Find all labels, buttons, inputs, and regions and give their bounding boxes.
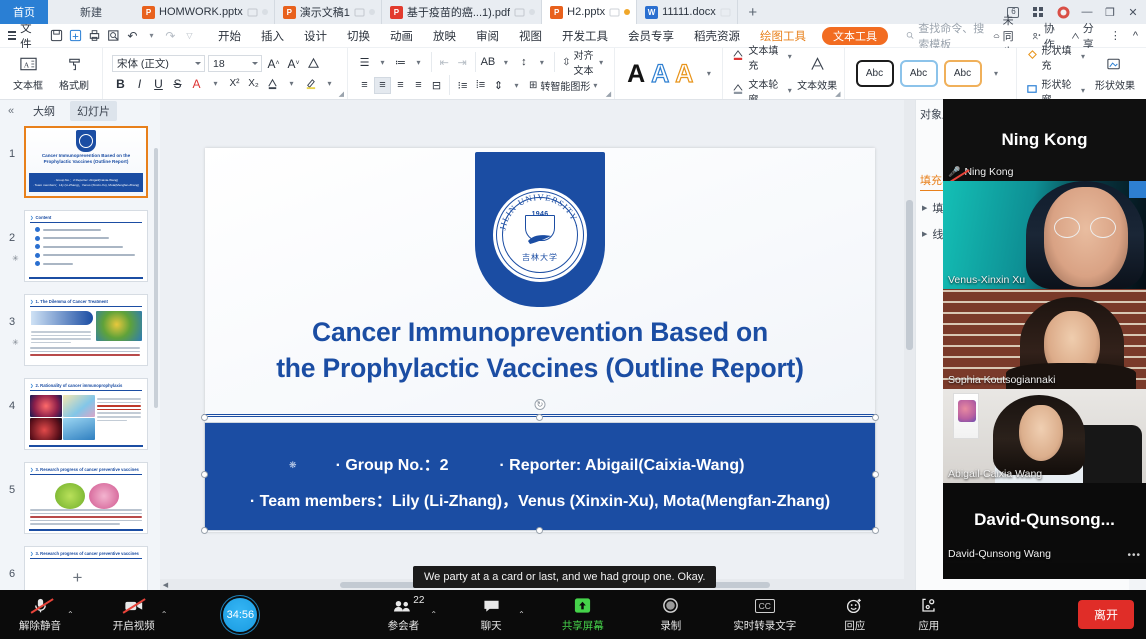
document-tab-label: 基于疫苗的癌...1).pdf (407, 4, 510, 20)
align-text-button[interactable]: ⇳ 对齐文本 ▾ (559, 54, 606, 71)
video-participant-name: Ning Kong (964, 166, 1013, 178)
row-spacing-caret-icon[interactable]: ▾ (508, 77, 525, 94)
video-tile-venus[interactable]: Venus-Xinxin Xu (943, 181, 1146, 289)
align-text-label: 对齐文本 (574, 47, 597, 77)
tab-status-dot (529, 9, 535, 15)
align-right-button[interactable]: ≡ (392, 77, 409, 94)
live-caption: We party at a a card or last, and we had… (413, 566, 716, 588)
underline-button[interactable]: U (150, 75, 167, 92)
record-button[interactable]: 录制 (645, 596, 697, 633)
text-outline-caret-icon: ▾ (788, 86, 792, 95)
video-name-label: Sophia Koutsogiannaki (948, 374, 1055, 386)
shape-fill-button[interactable]: 形状填充 ▾ (1026, 42, 1085, 72)
document-tab-presentation1[interactable]: P 演示文稿1 (275, 0, 382, 24)
share-icon (1071, 30, 1080, 42)
shape-effect-button[interactable]: 形状效果 (1089, 56, 1141, 92)
stage-vscroll-thumb[interactable] (906, 200, 913, 350)
text-fill-outline-controls: 文本填充 ▾ 文本轮廓 ▾ (728, 42, 795, 106)
slide-thumbnail-2[interactable]: 2 ✳ ❯Content (0, 206, 160, 290)
bold-button[interactable]: B (112, 75, 129, 92)
character-shading-icon[interactable] (264, 75, 281, 92)
participants-icon: 22 (393, 596, 413, 615)
superscript-button[interactable]: X² (226, 75, 243, 92)
video-tile-david[interactable]: David-Qunsong... David-Qunsong Wang ••• (943, 483, 1146, 563)
increase-font-size-button[interactable]: A˄ (265, 55, 282, 72)
svg-text:A: A (23, 60, 29, 69)
justify-button[interactable]: ≡ (410, 77, 427, 94)
text-direction-button[interactable]: AB (479, 54, 496, 71)
chat-options-caret-icon[interactable]: ⌃ (518, 610, 525, 619)
shape-style-black[interactable]: Abc (856, 60, 894, 87)
shape-effect-icon (1106, 56, 1123, 75)
slide-thumbnail-5[interactable]: 5 ❯3. Research progress of cancer preven… (0, 458, 160, 542)
video-control-group: 开启视频 ⌃ (108, 596, 168, 633)
align-text-icon: ⇳ (562, 57, 570, 68)
stage-vertical-scrollbar[interactable] (904, 100, 915, 579)
slides-panel-scrollbar[interactable] (154, 148, 158, 408)
document-tab-pdf[interactable]: P 基于疫苗的癌...1).pdf (382, 0, 542, 24)
chat-label: 聊天 (481, 618, 502, 633)
thumb-heading-text: 1. The Dilemma of Cancer Treatment (36, 299, 108, 304)
slides-panel: « 大纲 幻灯片 1 Cancer Immunoprevention Based… (0, 100, 160, 590)
tab-status-dot (262, 9, 268, 15)
paragraph-group-expand-icon[interactable]: ◢ (606, 90, 611, 98)
leave-meeting-button[interactable]: 离开 (1078, 600, 1134, 629)
video-options-caret-icon[interactable]: ⌃ (161, 610, 168, 619)
line-spacing-button[interactable]: ↕ (515, 54, 532, 71)
participants-button[interactable]: 22 参会者 (377, 596, 429, 633)
participants-label: 参会者 (388, 618, 420, 633)
command-search-placeholder: 查找命令、搜索模板 (918, 20, 993, 52)
mic-control-group: 解除静音 ⌃ (14, 596, 74, 633)
thumb-heading-text: 3. Research progress of cancer preventiv… (36, 551, 139, 556)
thumb-heading: ❯3. Research progress of cancer preventi… (30, 467, 142, 475)
paragraph-controls: ☰ ▾ ≔ ▾ ⇤ ⇥ AB ▾ ↕ ▾ ⇳ 对齐文本 ▾ (353, 52, 609, 95)
slide-info-box[interactable]: ❋ · Group No.：2 · Reporter: Abigail(Caix… (205, 423, 875, 530)
format-brush-icon (66, 56, 83, 75)
eyeglasses-icon (1054, 217, 1116, 238)
hamburger-icon (8, 29, 16, 42)
tab-preview-icon[interactable] (720, 7, 731, 18)
wall-poster (953, 393, 979, 439)
pdf-file-icon: P (390, 6, 403, 19)
thumb-info-band: · Group No.：2 Reporter: Abigail(Caixia-W… (29, 173, 143, 192)
slide-thumbnail-body: ❯2. Rationality of cancer immunoprophyla… (24, 378, 148, 450)
home-tab-label: 首页 (13, 4, 35, 20)
slide-info-line2: · Team members：Lily (Li-Zhang)，Venus (Xi… (205, 487, 875, 511)
tab-status-dot (369, 9, 375, 15)
thumb-cell-green (55, 483, 85, 509)
slide-thumbnail-3[interactable]: 3 ✳ ❯1. The Dilemma of Cancer Treatment (0, 290, 160, 374)
tab-slides[interactable]: 幻灯片 (70, 101, 117, 121)
thumb-info-line1: · Group No.：2 Reporter: Abigail(Caixia-W… (31, 178, 141, 182)
tab-outline[interactable]: 大纲 (26, 101, 62, 121)
powerpoint-file-icon: P (550, 6, 563, 19)
bullet-list-button[interactable]: ☰ (356, 54, 373, 71)
thumb-bullet (35, 261, 141, 266)
more-options-button[interactable]: ⋮ (1110, 29, 1121, 42)
start-video-button[interactable]: 开启视频 (108, 596, 160, 633)
leave-meeting-label: 离开 (1094, 608, 1118, 622)
zoom-video-panel: Ning Kong 🎤 Ning Kong Venus-Xinxin Xu So… (943, 99, 1146, 579)
collapse-panel-icon[interactable]: « (4, 105, 18, 117)
thumb-lines (31, 329, 93, 345)
highlight-caret-icon[interactable]: ▾ (321, 75, 338, 92)
thumb-heading: ❯1. The Dilemma of Cancer Treatment (30, 299, 142, 307)
mic-options-caret-icon[interactable]: ⌃ (67, 610, 74, 619)
resize-handle-right-top[interactable] (872, 414, 879, 421)
bullet-caret-icon[interactable]: ▾ (374, 54, 391, 71)
slide-number: 3 (0, 294, 24, 328)
align-center-button[interactable]: ≡ (374, 77, 391, 94)
ribbon-tab-developer[interactable]: 开发工具 (552, 28, 618, 44)
thumb-paragraph (30, 345, 142, 358)
italic-button[interactable]: I (131, 75, 148, 92)
collapse-ribbon-button[interactable]: ^ (1133, 30, 1138, 42)
logo-bird-icon (527, 233, 553, 245)
new-document-label: 新建 (80, 4, 102, 20)
undo-caret-icon[interactable]: ▾ (143, 27, 160, 45)
ribbon-group-textbox: A 文本框 格式刷 (0, 48, 102, 99)
ribbon-tab-view[interactable]: 视图 (509, 28, 552, 44)
slide-thumbnail-4[interactable]: 4 ❯2. Rationality of cancer immunoprophy… (0, 374, 160, 458)
logo-ring-icon: JILIN UNIVERSITY · CHINA 1946 吉林大学 (493, 188, 587, 282)
thumb-heading: ❯2. Rationality of cancer immunoprophyla… (30, 383, 142, 391)
slide-thumbnail-1[interactable]: 1 Cancer Immunoprevention Based on the P… (0, 122, 160, 206)
apps-icon (920, 596, 937, 615)
slide-thumbnail-body: ❯3. Research progress of cancer preventi… (24, 462, 148, 534)
subscript-button[interactable]: X₂ (245, 75, 262, 92)
convert-smartart-button[interactable]: ⊞ 转智能图形 ▾ (526, 77, 600, 94)
file-menu-label: 文件 (20, 20, 37, 52)
resize-handle-right-bottom[interactable] (872, 527, 879, 534)
logo-year: 1946 (532, 211, 549, 218)
logo-ring-text: JILIN UNIVERSITY · CHINA (493, 188, 587, 282)
active-slide[interactable]: JILIN UNIVERSITY · CHINA 1946 吉林大学 Cance… (205, 148, 875, 532)
document-tab-label: 11111.docx (662, 6, 716, 18)
number-caret-icon[interactable]: ▾ (410, 54, 427, 71)
columns-button[interactable]: ⁝≡ (454, 77, 471, 94)
participants-control-group: 22 参会者 ⌃ (377, 596, 437, 633)
thumb-info-line2: · Team members：Lily (Li-Zhang)，Venus (Xi… (31, 183, 141, 187)
textbox-label: 文本框 (13, 77, 43, 92)
shape-style-more-caret-icon[interactable]: ▾ (988, 65, 1005, 82)
video-off-icon (124, 596, 144, 615)
font-color-caret-icon[interactable]: ▾ (207, 75, 224, 92)
divider (554, 52, 555, 72)
smartart-label: 转智能图形 (540, 78, 590, 93)
shape-fill-caret-icon: ▾ (1081, 52, 1085, 61)
thumb-image-4 (63, 418, 95, 440)
new-document-button[interactable]: 新建 (48, 0, 134, 24)
powerpoint-file-icon: P (142, 6, 155, 19)
thumb-bullet (35, 253, 141, 258)
slide-editor-stage: JILIN UNIVERSITY · CHINA 1946 吉林大学 Cance… (160, 100, 915, 590)
divider (431, 52, 432, 72)
video-tile-ning-kong[interactable]: Ning Kong 🎤 Ning Kong (943, 99, 1146, 181)
paragraph-row-1: ☰ ▾ ≔ ▾ ⇤ ⇥ AB ▾ ↕ ▾ ⇳ 对齐文本 ▾ (356, 52, 606, 72)
shape-fill-icon (1026, 49, 1038, 64)
home-tab[interactable]: 首页 (0, 0, 48, 24)
mic-off-icon: 🎤 (948, 167, 960, 178)
text-outline-icon (732, 83, 744, 98)
new-tab-button[interactable]: + (738, 0, 768, 24)
cloud-sync-icon (993, 30, 1000, 42)
ribbon-tab-start[interactable]: 开始 (208, 28, 251, 44)
file-menu-button[interactable]: 文件 (0, 20, 44, 52)
format-brush-button[interactable]: 格式刷 (51, 56, 97, 92)
numbered-list-button[interactable]: ≔ (392, 54, 409, 71)
slide-thumbnail-body: ❯Content (24, 210, 148, 282)
smartart-caret-icon: ▾ (593, 81, 597, 90)
font-row-primary: 宋体 (正文) 18 A˄ A˅ (112, 55, 338, 72)
strikethrough-button[interactable]: S (169, 75, 186, 92)
ribbon-group-shape-format: 形状填充 ▾ 形状轮廓 ▾ 形状效果 (1016, 48, 1146, 99)
video-more-options-icon[interactable]: ••• (1127, 550, 1141, 561)
font-group-expand-icon[interactable]: ◢ (339, 90, 344, 98)
thumb-bullets (35, 227, 141, 270)
shape-style-gallery: Abc Abc Abc ▾ (850, 60, 1011, 87)
shape-outline-icon (1026, 83, 1038, 98)
font-controls: 宋体 (正文) 18 A˄ A˅ B I U (108, 55, 342, 92)
meeting-timer-value: 34:56 (227, 609, 255, 621)
video-name-label: David-Qunsong Wang (948, 548, 1051, 560)
thumb-bullet (35, 244, 141, 249)
shape-style-orange[interactable]: Abc (944, 60, 982, 87)
chevron-down-icon (195, 62, 201, 65)
thumb-title: Cancer Immunoprevention Based on the Pro… (30, 153, 142, 165)
textbox-button[interactable]: A 文本框 (5, 56, 51, 92)
slides-panel-header: « 大纲 幻灯片 (0, 100, 160, 122)
ribbon-tab-transition[interactable]: 切换 (337, 28, 380, 44)
thumb-heading-text: 3. Research progress of cancer preventiv… (36, 467, 139, 472)
resize-handle-right[interactable] (872, 471, 879, 478)
ribbon-group-font: 宋体 (正文) 18 A˄ A˅ B I U (102, 48, 347, 99)
document-tab-homwork[interactable]: P HOMWORK.pptx (134, 0, 275, 24)
ribbon-tab-slideshow[interactable]: 放映 (423, 28, 466, 44)
thumb-image-3 (30, 418, 62, 440)
decrease-font-size-button[interactable]: A˅ (285, 55, 302, 72)
paragraph-row-2: ≡ ≡ ≡ ≡ ⊟ ⁝≡ ⁞≡ ⇕ ▾ ⊞ 转智能图形 ▾ (356, 75, 606, 95)
document-tab-label: 演示文稿1 (300, 4, 350, 20)
font-family-select[interactable]: 宋体 (正文) (112, 55, 205, 72)
thumb-heading-marker: ❯ (30, 467, 34, 472)
reactions-button[interactable]: 回应 (829, 596, 881, 633)
text-direction-caret-icon[interactable]: ▾ (497, 54, 514, 71)
resize-handle-top[interactable] (536, 414, 543, 421)
animation-star-icon: ✳ (12, 338, 19, 347)
font-family-value: 宋体 (正文) (117, 56, 169, 71)
video-participant-name: David-Qunsong Wang (948, 548, 1051, 560)
shading-caret-icon[interactable]: ▾ (283, 75, 300, 92)
font-size-value: 18 (213, 58, 225, 70)
tab-preview-icon[interactable] (354, 7, 365, 18)
ribbon-tab-text-tools[interactable]: 文本工具 (822, 27, 888, 45)
svg-text:JILIN UNIVERSITY · CHINA: JILIN UNIVERSITY · CHINA (493, 188, 583, 232)
rotate-handle[interactable]: ↻ (535, 399, 546, 410)
mic-off-icon (32, 596, 49, 615)
align-text-caret-icon: ▾ (599, 58, 603, 67)
tab-preview-icon[interactable] (514, 7, 525, 18)
resize-handle-left-bottom[interactable] (201, 527, 208, 534)
ribbon-tab-review[interactable]: 审阅 (466, 28, 509, 44)
text-fill-button[interactable]: 文本填充 ▾ (732, 42, 791, 72)
increase-indent-button[interactable]: ⇥ (454, 54, 471, 71)
tab-preview-icon[interactable] (247, 7, 258, 18)
resize-handle-left[interactable] (201, 471, 208, 478)
slides-list[interactable]: 1 Cancer Immunoprevention Based on the P… (0, 122, 160, 590)
video-name-label: 🎤 Ning Kong (948, 166, 1014, 178)
video-display-name: David-Qunsong... (943, 510, 1146, 530)
undo-icon[interactable]: ↶ (124, 27, 141, 45)
print-icon[interactable] (86, 27, 103, 45)
paragraph-spacing-button[interactable]: ⁞≡ (472, 77, 489, 94)
save-as-cloud-icon[interactable] (67, 27, 84, 45)
thumb-heading-marker: ❯ (30, 299, 34, 304)
start-video-label: 开启视频 (113, 618, 155, 633)
slide-title[interactable]: Cancer Immunoprevention Based on the Pro… (227, 314, 853, 386)
font-row-styles: B I U S A ▾ X² X₂ ▾ ▾ (112, 75, 338, 92)
chevron-right-icon: ▶ (922, 204, 927, 212)
record-label: 录制 (660, 618, 681, 633)
customize-qat-icon[interactable]: ▽ (181, 27, 198, 45)
wordart-gallery: A A A (620, 61, 700, 87)
add-slide-button[interactable]: + (0, 568, 155, 588)
resize-handle-bottom[interactable] (536, 527, 543, 534)
highlight-icon[interactable] (302, 75, 319, 92)
logo-inner-emblem: 1946 吉林大学 (515, 209, 565, 261)
document-tab-docx[interactable]: W 11111.docx (637, 0, 738, 24)
wordart-style-blue[interactable]: A (651, 61, 669, 87)
meeting-timer: 34:56 (223, 598, 257, 632)
thumb-paragraph (30, 507, 142, 527)
ribbon-group-wordart: A A A ▾ (614, 48, 722, 99)
video-name-label: Abigail-Caixia Wang (948, 468, 1042, 480)
thumb-image-1 (30, 395, 62, 417)
decrease-indent-button[interactable]: ⇤ (436, 54, 453, 71)
search-icon (906, 30, 914, 41)
slide-thumbnail-body: Cancer Immunoprevention Based on the Pro… (24, 126, 148, 198)
participant-face (1019, 405, 1063, 461)
shape-style-blue[interactable]: Abc (900, 60, 938, 87)
print-preview-icon[interactable] (105, 27, 122, 45)
live-caption-text: We party at a a card or last, and we had… (424, 571, 705, 583)
participants-count: 22 (413, 595, 424, 606)
slide-number: 1 (0, 126, 24, 160)
ribbon-group-paragraph: ☰ ▾ ≔ ▾ ⇤ ⇥ AB ▾ ↕ ▾ ⇳ 对齐文本 ▾ (347, 48, 614, 99)
ribbon-toolbar: A 文本框 格式刷 宋体 (正文) 18 (0, 48, 1146, 100)
zoom-meeting-toolbar: 解除静音 ⌃ 开启视频 ⌃ 34:56 22 (0, 590, 1146, 639)
slide-title-line1: Cancer Immunoprevention Based on (227, 314, 853, 350)
participants-options-caret-icon[interactable]: ⌃ (430, 610, 437, 619)
font-color-button[interactable]: A (188, 75, 205, 92)
thumb-side-text (97, 396, 143, 423)
unmute-label: 解除静音 (19, 618, 61, 633)
format-brush-label: 格式刷 (59, 77, 89, 92)
thumb-heading-text: Content (36, 215, 52, 220)
slide-number: 4 (0, 378, 24, 412)
text-effect-label: 文本效果 (797, 77, 837, 92)
thumb-image-2 (63, 395, 95, 417)
command-search-box[interactable]: 查找命令、搜索模板 (906, 20, 993, 52)
slide-number: 2 (0, 210, 24, 244)
slide-info-line1: · Group No.：2 · Reporter: Abigail(Caixia… (205, 451, 875, 475)
font-size-select[interactable]: 18 (208, 55, 262, 72)
text-effect-button[interactable]: 文本效果 (796, 56, 839, 92)
video-name-label: Venus-Xinxin Xu (948, 274, 1025, 286)
university-logo-icon (76, 130, 96, 152)
resize-handle-left-top[interactable] (201, 414, 208, 421)
ribbon-tab-design[interactable]: 设计 (294, 28, 337, 44)
text-fill-label: 文本填充 (748, 42, 783, 72)
slide-number: 5 (0, 462, 24, 496)
wordart-more-caret-icon[interactable]: ▾ (700, 65, 717, 82)
clear-formatting-icon[interactable] (305, 55, 322, 72)
video-participant-name: Sophia Koutsogiannaki (948, 374, 1055, 386)
share-screen-button[interactable]: 共享屏幕 (557, 596, 609, 633)
apps-button[interactable]: 应用 (903, 596, 955, 633)
divider (449, 75, 450, 95)
thumb-heading-marker: ❯ (30, 551, 34, 556)
align-left-button[interactable]: ≡ (356, 77, 373, 94)
row-spacing-button[interactable]: ⇕ (490, 77, 507, 94)
thumb-bullet (35, 236, 141, 241)
video-corner-marker (1129, 181, 1146, 198)
collapse-ribbon-label: ^ (1133, 30, 1138, 42)
new-tab-label: + (748, 4, 757, 21)
video-participant-name: Abigail-Caixia Wang (948, 468, 1042, 480)
document-tab-label: H2.pptx (567, 6, 605, 18)
quick-access-toolbar: ↶ ▾ ↷ ▽ (44, 27, 202, 45)
chat-button[interactable]: 聊天 (465, 596, 517, 633)
wordart-style-orange[interactable]: A (675, 61, 693, 87)
divider (475, 52, 476, 72)
video-tile-sophia[interactable]: Sophia Koutsogiannaki (943, 289, 1146, 389)
shape-outline-caret-icon: ▾ (1081, 86, 1085, 95)
document-tab-h2[interactable]: P H2.pptx (542, 0, 637, 24)
scroll-left-icon[interactable]: ◀ (160, 581, 171, 589)
thumb-footer-bar (29, 445, 143, 447)
unmute-button[interactable]: 解除静音 (14, 596, 66, 633)
thumb-heading: ❯Content (30, 215, 142, 223)
add-slide-label: + (73, 568, 83, 587)
thumb-heading-marker: ❯ (30, 215, 34, 220)
ribbon-tab-animation[interactable]: 动画 (380, 28, 423, 44)
distribute-button[interactable]: ⊟ (428, 77, 445, 94)
cc-icon: CC (755, 596, 775, 615)
redo-icon[interactable]: ↷ (162, 27, 179, 45)
reactions-label: 回应 (844, 618, 865, 633)
jilin-university-logo: JILIN UNIVERSITY · CHINA 1946 吉林大学 (475, 152, 605, 307)
ribbon-tab-insert[interactable]: 插入 (251, 28, 294, 44)
document-tab-label: HOMWORK.pptx (159, 6, 243, 18)
text-style-group-expand-icon[interactable]: ◢ (835, 90, 840, 98)
thumb-funnel-graphic (31, 311, 93, 325)
shape-fill-outline-controls: 形状填充 ▾ 形状轮廓 ▾ (1022, 42, 1089, 106)
ribbon-tab-member[interactable]: 会员专享 (618, 28, 684, 44)
video-tile-abigail[interactable]: Abigail-Caixia Wang (943, 389, 1146, 483)
save-icon[interactable] (48, 27, 65, 45)
live-transcript-button[interactable]: CC 实时转录文字 (727, 596, 803, 633)
record-icon (662, 596, 679, 615)
slide-group-label: · Group No.：2 (336, 457, 449, 474)
slide-title-line2: the Prophylactic Vaccines (Outline Repor… (227, 350, 853, 386)
share-screen-icon (573, 596, 592, 615)
line-spacing-caret-icon[interactable]: ▾ (533, 54, 550, 71)
ribbon-group-shape-styles: Abc Abc Abc ▾ (844, 48, 1016, 99)
wordart-style-black[interactable]: A (627, 61, 645, 87)
tab-preview-icon[interactable] (609, 7, 620, 18)
